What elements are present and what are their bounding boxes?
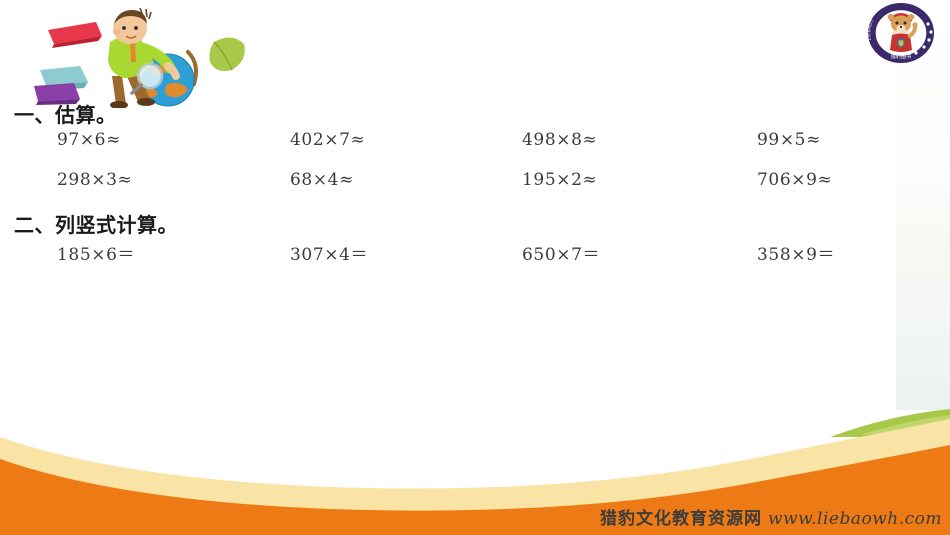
problem-2-3: 195×2≈: [522, 170, 597, 190]
boy-with-globe-illustration: [18, 4, 258, 108]
green-leaf-large-icon: [210, 37, 245, 71]
section-one-row-1: 97×6≈ 402×7≈ 498×8≈ 99×5≈: [0, 130, 900, 170]
problem-1-1: 97×6≈: [57, 130, 121, 150]
problem-3-1: 185×6＝: [57, 240, 135, 265]
watermark-chinese: 猎豹文化教育资源网: [600, 504, 762, 529]
section-two: 二、列竖式计算。 185×6＝ 307×4＝ 650×7＝ 358×9＝: [0, 210, 900, 280]
badge-bottom-text: 猎豹图书: [891, 52, 912, 60]
problem-3-2: 307×4＝: [290, 240, 368, 265]
problem-2-4: 706×9≈: [757, 170, 832, 190]
section-two-heading: 二、列竖式计算。: [14, 210, 900, 240]
red-paper-icon: [48, 22, 102, 48]
problem-1-2: 402×7≈: [290, 130, 365, 150]
watermark: 猎豹文化教育资源网 www.liebaowh.com: [600, 504, 942, 529]
section-one-heading: 一、估算。: [14, 100, 900, 130]
problem-1-3: 498×8≈: [522, 130, 597, 150]
liebao-mascot-badge: LIEBAOTUSHU 猎豹图书: [860, 2, 942, 64]
slide-canvas: LIEBAOTUSHU 猎豹图书 一、估算。: [0, 0, 950, 535]
problem-3-3: 650×7＝: [522, 240, 600, 265]
section-two-row-1: 185×6＝ 307×4＝ 650×7＝ 358×9＝: [0, 240, 900, 280]
problem-1-4: 99×5≈: [757, 130, 821, 150]
problem-3-4: 358×9＝: [757, 240, 835, 265]
section-one-row-2: 298×3≈ 68×4≈ 195×2≈ 706×9≈: [0, 170, 900, 210]
watermark-url: www.liebaowh.com: [768, 509, 942, 529]
problem-2-2: 68×4≈: [290, 170, 354, 190]
worksheet-content: 一、估算。 97×6≈ 402×7≈ 498×8≈ 99×5≈ 298×3≈ 6…: [0, 100, 900, 280]
problem-2-1: 298×3≈: [57, 170, 132, 190]
section-one: 一、估算。 97×6≈ 402×7≈ 498×8≈ 99×5≈ 298×3≈ 6…: [0, 100, 900, 210]
